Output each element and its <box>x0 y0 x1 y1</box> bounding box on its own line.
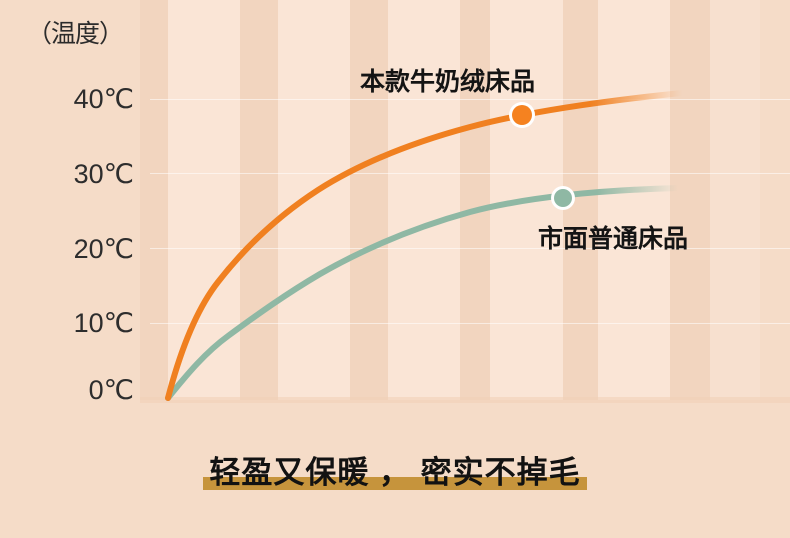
temperature-comparison-chart: （温度） 40℃ 30℃ 20℃ 10℃ 0℃ <box>0 0 790 538</box>
caption-inner: 轻盈又保暖 ， 密实不掉毛 <box>203 447 586 492</box>
marker-common-dot <box>554 189 572 207</box>
caption-text: 轻盈又保暖 ， 密实不掉毛 <box>209 455 580 490</box>
caption: 轻盈又保暖 ， 密实不掉毛 <box>0 447 790 492</box>
series-label-common: 市面普通床品 <box>538 219 688 255</box>
marker-premium-dot <box>512 105 532 125</box>
series-label-premium: 本款牛奶绒床品 <box>360 62 535 98</box>
